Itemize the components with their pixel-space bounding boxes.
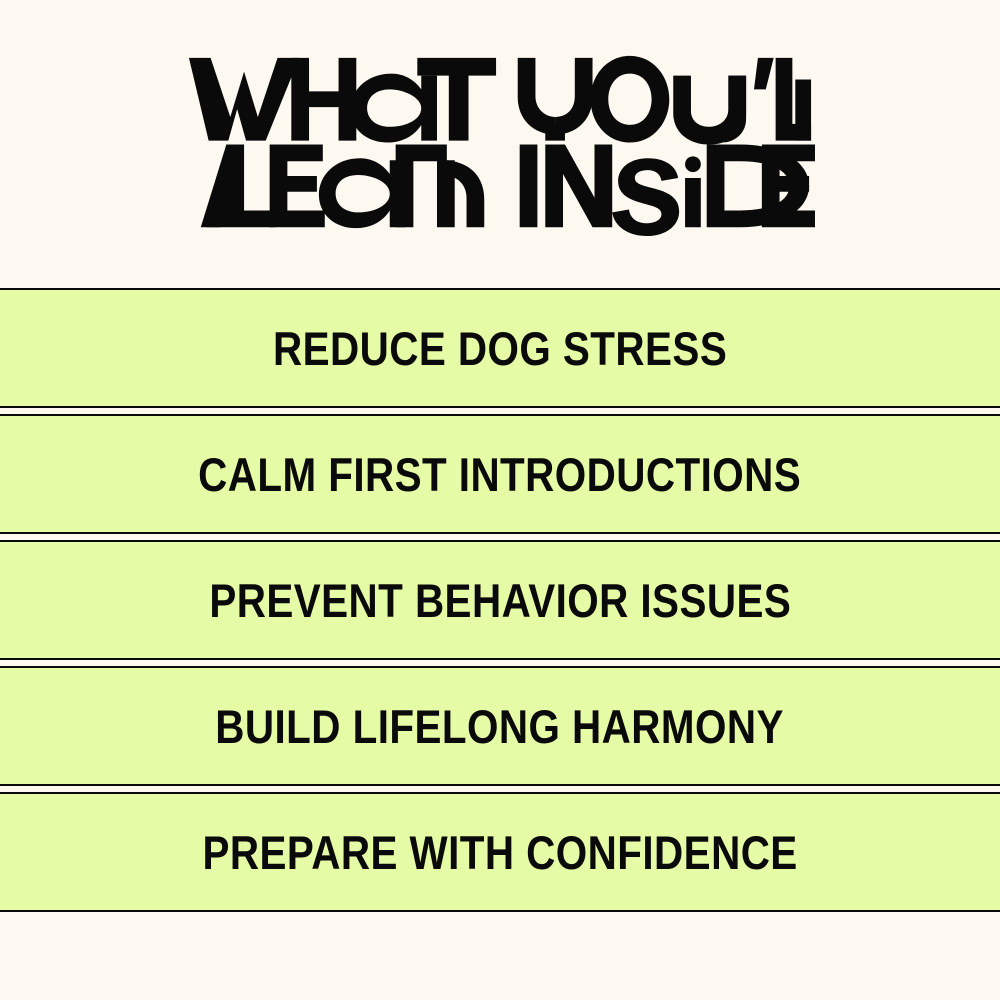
benefits-list: REDUCE DOG STRESS CALM FIRST INTRODUCTIO… [0, 288, 1000, 912]
heading-artwork [185, 50, 815, 237]
benefit-label-2: CALM FIRST INTRODUCTIONS [198, 451, 801, 498]
heading-line-2 [201, 145, 815, 237]
benefit-row-5[interactable]: PREPARE WITH CONFIDENCE [0, 792, 1000, 912]
benefit-row-3[interactable]: PREVENT BEHAVIOR ISSUES [0, 540, 1000, 660]
benefit-label-3: PREVENT BEHAVIOR ISSUES [209, 577, 791, 624]
page-title: WHAT YOU'LL LEARN INSIDE [0, 0, 1000, 288]
benefit-row-2[interactable]: CALM FIRST INTRODUCTIONS [0, 414, 1000, 534]
benefit-label-4: BUILD LIFELONG HARMONY [216, 703, 785, 750]
benefit-label-1: REDUCE DOG STRESS [273, 325, 727, 372]
benefit-row-1[interactable]: REDUCE DOG STRESS [0, 288, 1000, 408]
benefit-label-5: PREPARE WITH CONFIDENCE [202, 829, 797, 876]
benefit-row-4[interactable]: BUILD LIFELONG HARMONY [0, 666, 1000, 786]
heading-line-1 [189, 56, 811, 145]
poster-canvas: WHAT YOU'LL LEARN INSIDE REDUCE DOG STRE… [0, 0, 1000, 1000]
